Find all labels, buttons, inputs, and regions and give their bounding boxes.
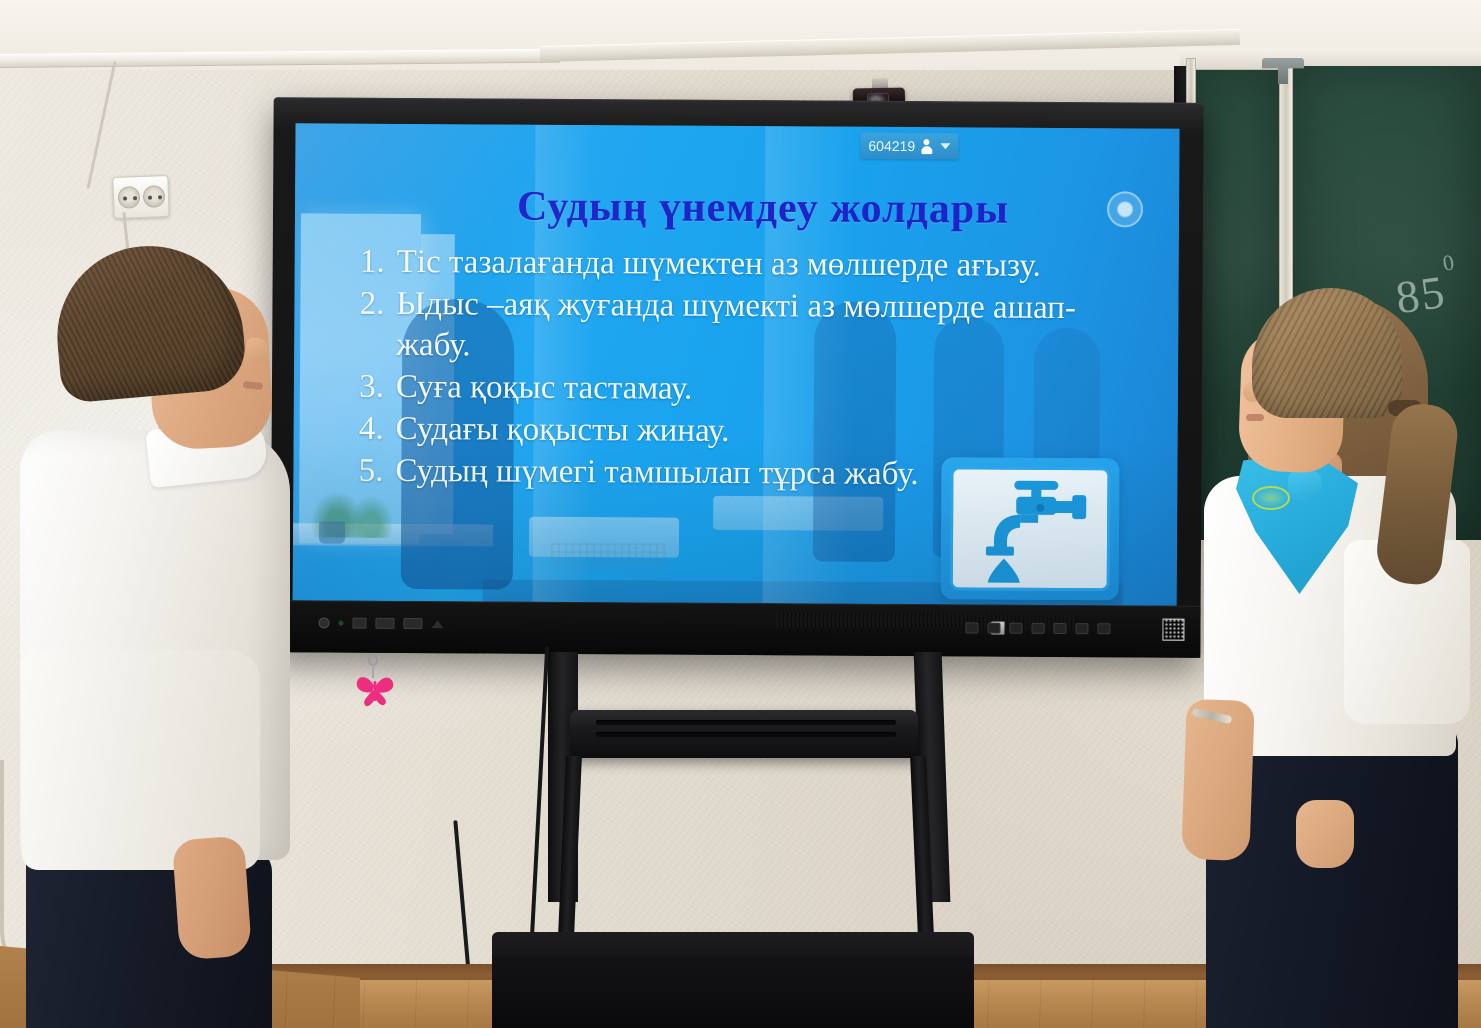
shelf-groove-bottom — [596, 732, 896, 737]
student-right-arm — [1181, 699, 1255, 861]
list-item: 1. Тіс тазалағанда шүмектен аз мөлшерде … — [351, 242, 1155, 288]
reflection-keyboard-a — [551, 543, 667, 570]
water-tap-icon — [964, 474, 1097, 583]
butterfly-keychain-icon — [356, 672, 394, 708]
user-badge-id: 604219 — [868, 138, 915, 154]
io-port-panel[interactable] — [318, 617, 443, 629]
outlet-socket-left — [118, 186, 141, 209]
qr-code-icon — [1162, 619, 1184, 641]
bezel-button-4[interactable] — [1031, 623, 1044, 634]
student-left-arm — [172, 836, 252, 961]
bezel-button-6[interactable] — [1075, 623, 1088, 634]
list-item-number: 5. — [349, 451, 395, 492]
interactive-display[interactable]: 604219 Судың үнемдеу жолдары 1. Тіс таза… — [270, 97, 1203, 658]
status-led-icon — [338, 621, 343, 626]
reflection-plant-a — [311, 491, 363, 537]
reflection-flowerpot — [319, 521, 345, 543]
student-right-lips — [1246, 414, 1264, 421]
water-tap-card — [941, 457, 1120, 600]
student-right-hand — [1296, 800, 1354, 868]
usb-port-icon — [352, 618, 366, 629]
list-item-text: Судағы қоқысты жинау. — [396, 409, 1154, 455]
list-item-number: 2. — [350, 284, 397, 366]
water-tap-card-inner — [950, 466, 1111, 591]
reflection-desk-b — [713, 496, 883, 531]
classroom-scene: 85 0 — [0, 0, 1481, 1028]
chalkboard-writing: 85 — [1393, 265, 1450, 324]
person-icon — [921, 139, 932, 154]
neckerchief-emblem-icon — [1252, 486, 1290, 510]
list-item-text: Ыдыс –аяқ жуғанда шүмекті аз мөлшерде аш… — [396, 284, 1154, 371]
slide-title: Судың үнемдеу жолдары — [383, 182, 1143, 235]
chevron-down-icon[interactable] — [940, 143, 950, 149]
bezel-button-5[interactable] — [1053, 623, 1066, 634]
hdmi-port-icon — [375, 618, 394, 629]
stand-shelf — [570, 710, 918, 758]
display-screen[interactable]: 604219 Судың үнемдеу жолдары 1. Тіс таза… — [293, 123, 1180, 605]
list-item-number: 4. — [350, 409, 396, 450]
list-item: 3. Суға қоқыс тастамау. — [350, 367, 1154, 413]
power-button-icon[interactable] — [318, 617, 329, 628]
bezel-button-1[interactable] — [965, 622, 978, 633]
outlet-socket-right — [143, 185, 166, 208]
list-item-text: Суға қоқыс тастамау. — [396, 367, 1154, 413]
screen-glare-spot — [1107, 191, 1143, 227]
home-button-icon[interactable] — [431, 620, 443, 628]
reflection-windowsill — [293, 523, 493, 546]
bezel-button-row[interactable] — [965, 622, 1110, 634]
list-item-number: 3. — [350, 367, 396, 408]
list-item-text: Тіс тазалағанда шүмектен аз мөлшерде ағы… — [397, 242, 1155, 288]
bezel-button-2[interactable] — [987, 623, 1000, 634]
bezel-button-3[interactable] — [1009, 623, 1022, 634]
user-badge[interactable]: 604219 — [860, 133, 958, 160]
neckerchief-knot — [1288, 470, 1322, 500]
shelf-groove-top — [596, 720, 896, 725]
reflection-plant-b — [349, 496, 393, 538]
display-bottom-bezel — [270, 600, 1200, 658]
list-item: 4. Судағы қоқысты жинау. — [350, 409, 1154, 455]
presentation-slide: 604219 Судың үнемдеу жолдары 1. Тіс таза… — [293, 123, 1180, 605]
stand-base-front — [492, 956, 974, 1028]
wall-power-outlet[interactable] — [112, 175, 169, 219]
reflection-desk-a — [529, 517, 679, 558]
vga-port-icon — [403, 618, 422, 629]
list-item: 2. Ыдыс –аяқ жуғанда шүмекті аз мөлшерде… — [350, 284, 1154, 371]
bezel-button-7[interactable] — [1097, 623, 1110, 634]
list-item-number: 1. — [351, 242, 397, 283]
